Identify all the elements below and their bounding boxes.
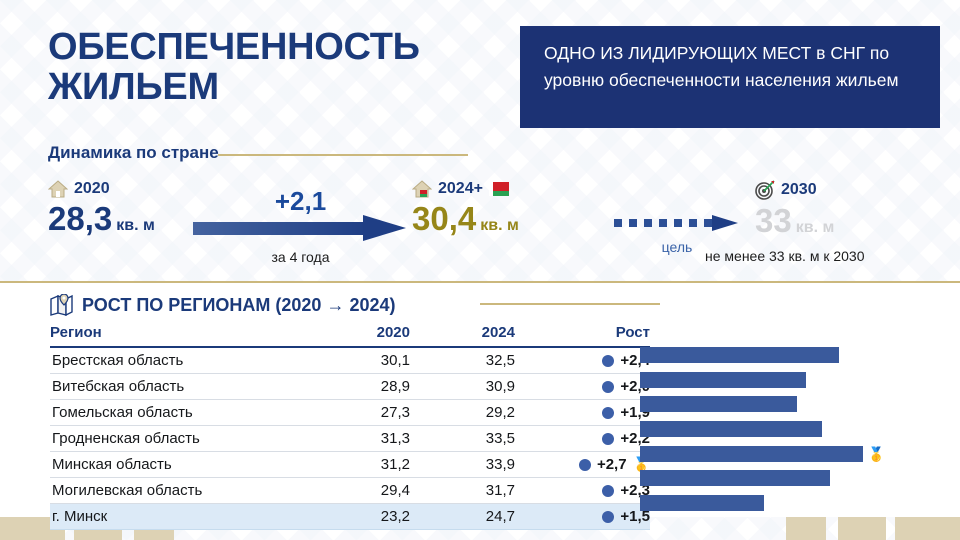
cell-growth: +2,0 [515, 374, 650, 400]
page-title-line-1: ОБЕСПЕЧЕННОСТЬ [48, 28, 488, 68]
col-header-2024: 2024 [410, 322, 515, 347]
growth-value-group: +1,9 [515, 404, 650, 421]
growth-bar-chart: 🥇 [640, 343, 925, 515]
cell-region: Могилевская область [50, 478, 300, 504]
cell-2024: 29,2 [410, 400, 515, 426]
cell-region: г. Минск [50, 504, 300, 530]
growth-value-group: +1,5 [515, 508, 650, 525]
growth-arrow-caption: за 4 года [193, 249, 408, 265]
kpi-2024-value-row: 30,4кв. м [412, 202, 519, 235]
table-row[interactable]: Витебская область28,930,9+2,0 [50, 374, 650, 400]
arrow-right-icon [193, 214, 408, 242]
kpi-2024-unit: кв. м [480, 217, 519, 234]
cell-2020: 31,2 [300, 452, 410, 478]
cell-growth: +2,7🥇 [515, 452, 650, 478]
callout-text: ОДНО ИЗ ЛИДИРУЮЩИХ МЕСТ в СНГ по уровню … [544, 43, 899, 90]
growth-value-group: +2,3 [515, 482, 650, 499]
growth-bar [640, 470, 830, 486]
bar-row [640, 466, 925, 491]
cell-region: Витебская область [50, 374, 300, 400]
dynamics-heading-rule [218, 154, 468, 156]
kpi-2020: 2020 28,3кв. м [48, 180, 155, 235]
kpi-2030-value: 33 [755, 202, 792, 239]
growth-dot-icon [602, 407, 614, 419]
regions-table: Регион 2020 2024 Рост Брестская область3… [50, 322, 650, 530]
cell-2024: 30,9 [410, 374, 515, 400]
regions-table-header-row: Регион 2020 2024 Рост [50, 322, 650, 347]
kpi-2030-label-row: 2030 [755, 180, 834, 200]
regions-table-body: Брестская область30,132,5+2,4Витебская о… [50, 347, 650, 530]
infographic-slide: ОБЕСПЕЧЕННОСТЬ ЖИЛЬЕМ ОДНО ИЗ ЛИДИРУЮЩИХ… [0, 0, 960, 540]
dynamics-heading: Динамика по стране [48, 143, 219, 163]
belarus-flag-icon [489, 182, 509, 196]
growth-bar [640, 495, 764, 511]
cell-2024: 31,7 [410, 478, 515, 504]
growth-value-group: +2,0 [515, 378, 650, 395]
cell-2020: 28,9 [300, 374, 410, 400]
cell-region: Гомельская область [50, 400, 300, 426]
kpi-2020-label: 2020 [74, 180, 110, 198]
kpi-2024-label-row: 2024+ [412, 180, 519, 198]
col-header-growth: Рост [515, 322, 650, 347]
regions-heading-rule [480, 303, 660, 305]
kpi-2030-label: 2030 [781, 181, 817, 199]
table-row[interactable]: Минская область31,233,9+2,7🥇 [50, 452, 650, 478]
growth-value: +2,7 [597, 456, 627, 473]
cell-2020: 30,1 [300, 347, 410, 374]
growth-arrow-group: +2,1 за 4 года [193, 188, 408, 265]
kpi-2020-value-row: 28,3кв. м [48, 202, 155, 235]
kpi-2030-unit: кв. м [796, 219, 835, 236]
cell-growth: +1,5 [515, 504, 650, 530]
cell-2020: 23,2 [300, 504, 410, 530]
cell-growth: +2,4 [515, 347, 650, 374]
house-icon [412, 180, 432, 198]
bar-row: 🥇 [640, 441, 925, 466]
bar-row [640, 368, 925, 393]
growth-bar [640, 446, 863, 462]
table-row[interactable]: Могилевская область29,431,7+2,3 [50, 478, 650, 504]
growth-delta-value: +2,1 [193, 188, 408, 214]
growth-bar [640, 347, 839, 363]
cell-2024: 24,7 [410, 504, 515, 530]
kpi-2030-note: не менее 33 кв. м к 2030 [705, 248, 865, 264]
cell-2020: 27,3 [300, 400, 410, 426]
table-row[interactable]: г. Минск23,224,7+1,5 [50, 504, 650, 530]
table-row[interactable]: Гродненская область31,333,5+2,2 [50, 426, 650, 452]
growth-dot-icon [602, 485, 614, 497]
growth-dot-icon [602, 381, 614, 393]
growth-dot-icon [579, 459, 591, 471]
kpi-2020-label-row: 2020 [48, 180, 155, 198]
col-header-2020: 2020 [300, 322, 410, 347]
cell-growth: +2,2 [515, 426, 650, 452]
cell-2020: 31,3 [300, 426, 410, 452]
kpi-2020-value: 28,3 [48, 200, 112, 237]
cell-region: Гродненская область [50, 426, 300, 452]
cell-2024: 33,5 [410, 426, 515, 452]
target-icon [755, 180, 775, 200]
kpi-2024-label: 2024+ [438, 180, 483, 198]
regions-heading-text: РОСТ ПО РЕГИОНАМ (2020 → 2024) [82, 295, 395, 316]
cell-region: Брестская область [50, 347, 300, 374]
table-row[interactable]: Брестская область30,132,5+2,4 [50, 347, 650, 374]
bar-row [640, 491, 925, 516]
growth-dot-icon [602, 355, 614, 367]
regions-table-head: Регион 2020 2024 Рост [50, 322, 650, 347]
kpi-2024-value: 30,4 [412, 200, 476, 237]
col-header-region: Регион [50, 322, 300, 347]
growth-value-group: +2,4 [515, 352, 650, 369]
cell-growth: +2,3 [515, 478, 650, 504]
house-icon [48, 180, 68, 198]
dashed-arrow-right-icon [612, 214, 742, 232]
map-pin-icon [50, 294, 74, 316]
growth-value-group: +2,2 [515, 430, 650, 447]
callout-banner: ОДНО ИЗ ЛИДИРУЮЩИХ МЕСТ в СНГ по уровню … [520, 26, 940, 128]
growth-value-group: +2,7🥇 [515, 456, 650, 473]
kpi-2024: 2024+ 30,4кв. м [412, 180, 519, 235]
growth-bar [640, 372, 806, 388]
growth-dot-icon [602, 511, 614, 523]
kpi-2020-unit: кв. м [116, 217, 155, 234]
bar-row [640, 392, 925, 417]
cell-2020: 29,4 [300, 478, 410, 504]
cell-2024: 32,5 [410, 347, 515, 374]
table-row[interactable]: Гомельская область27,329,2+1,9 [50, 400, 650, 426]
kpi-2030-value-row: 33кв. м [755, 204, 834, 237]
page-title: ОБЕСПЕЧЕННОСТЬ ЖИЛЬЕМ [48, 28, 488, 108]
cell-growth: +1,9 [515, 400, 650, 426]
growth-bar [640, 396, 797, 412]
growth-bar [640, 421, 822, 437]
regions-heading: РОСТ ПО РЕГИОНАМ (2020 → 2024) [50, 294, 395, 316]
growth-dot-icon [602, 433, 614, 445]
kpi-2030: 2030 33кв. м [755, 180, 834, 237]
cell-2024: 33,9 [410, 452, 515, 478]
bar-row [640, 417, 925, 442]
page-title-line-2: ЖИЛЬЕМ [48, 68, 488, 108]
cell-region: Минская область [50, 452, 300, 478]
medal-icon: 🥇 [867, 447, 884, 461]
bar-row [640, 343, 925, 368]
